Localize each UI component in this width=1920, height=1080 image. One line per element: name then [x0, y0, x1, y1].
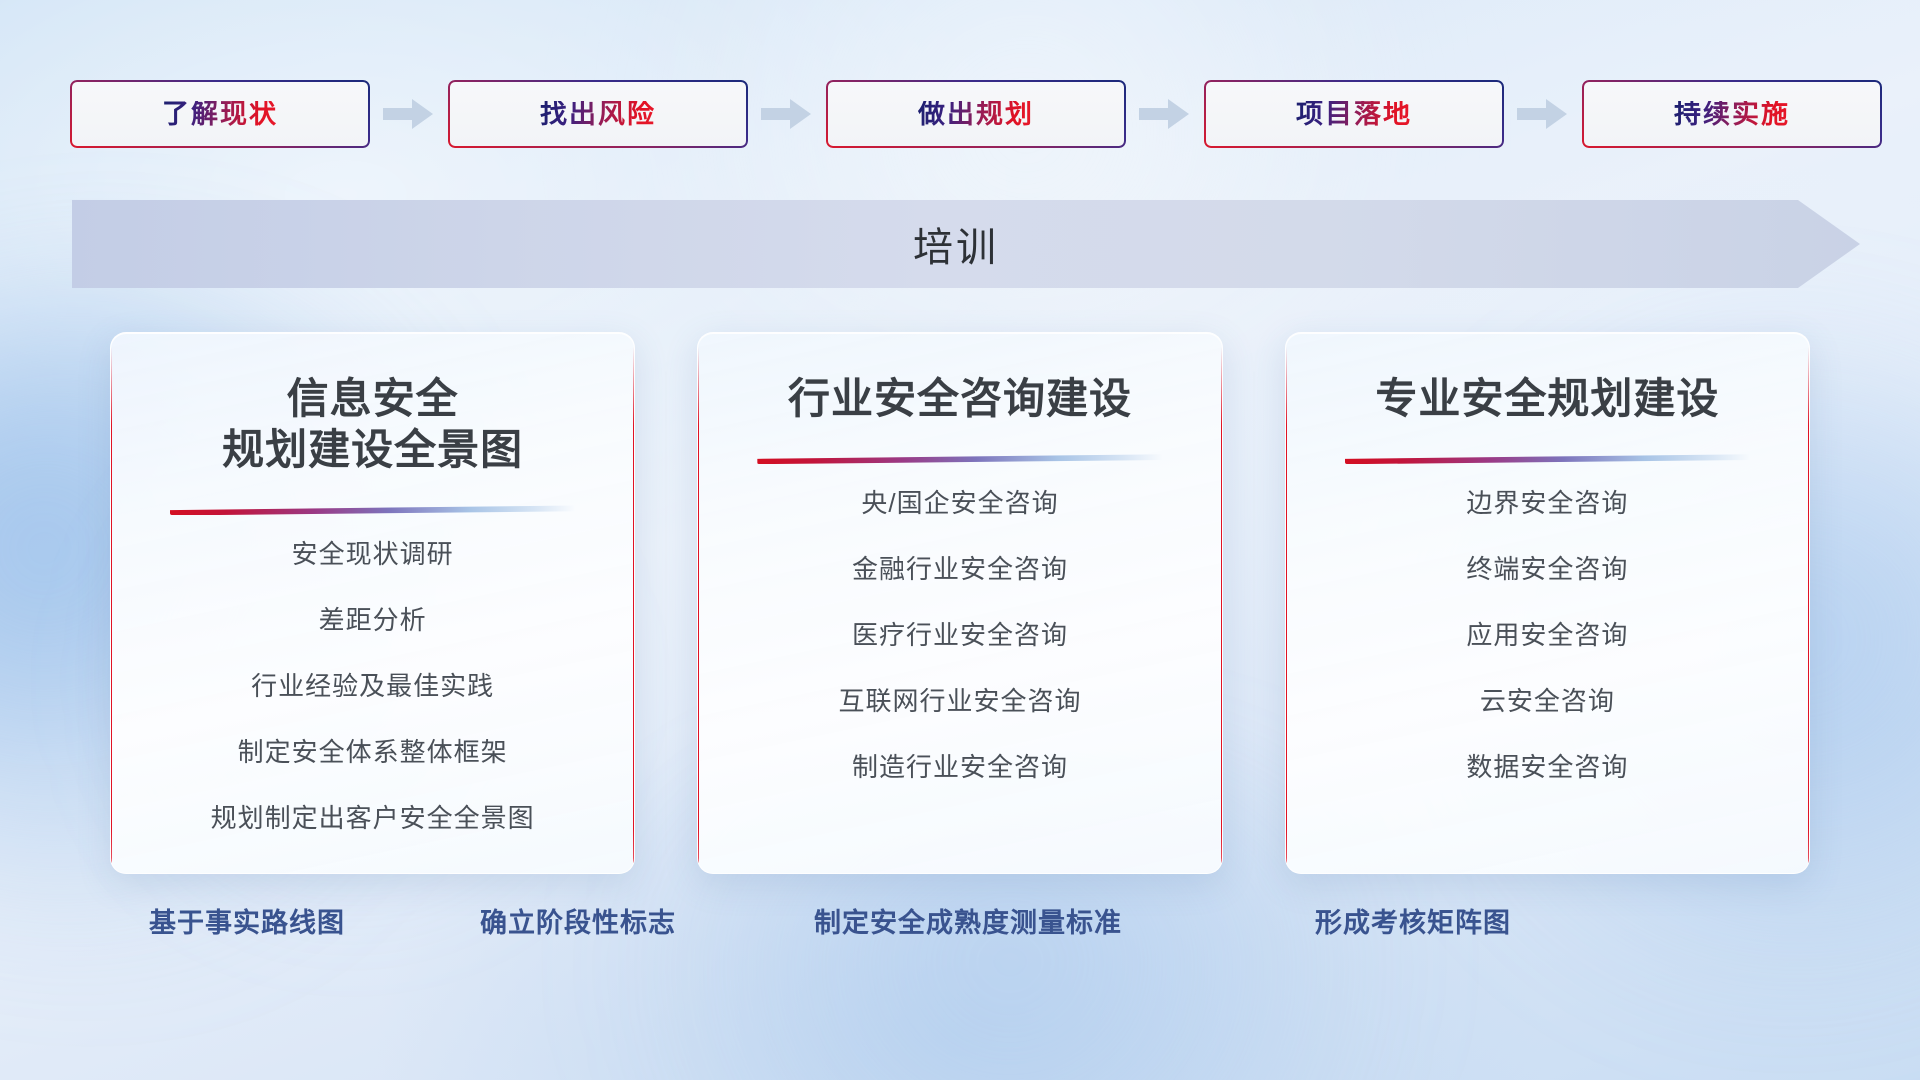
list-item: 医疗行业安全咨询: [724, 622, 1195, 648]
outcome-label-row: 基于事实路线图 确立阶段性标志 制定安全成熟度测量标准 形成考核矩阵图: [0, 910, 1920, 960]
card-accent-line-left: [110, 347, 112, 874]
outcome-label-3: 制定安全成熟度测量标准: [814, 910, 1122, 937]
process-step-3[interactable]: 做出规划: [826, 80, 1126, 148]
list-item: 安全现状调研: [137, 541, 608, 567]
process-step-2-label: 找出风险: [540, 101, 656, 128]
list-item: 差距分析: [137, 607, 608, 633]
list-item: 制造行业安全咨询: [724, 754, 1195, 780]
outcome-label-4: 形成考核矩阵图: [1315, 910, 1511, 937]
background-blob-top: [576, 0, 1476, 340]
list-item: 应用安全咨询: [1312, 622, 1783, 648]
list-item: 金融行业安全咨询: [724, 556, 1195, 582]
process-step-5[interactable]: 持续实施: [1582, 80, 1882, 148]
card-accent-line-right: [1221, 347, 1223, 874]
process-step-5-label: 持续实施: [1674, 101, 1790, 128]
list-item: 规划制定出客户安全全景图: [137, 805, 608, 831]
training-banner-label: 培训: [72, 200, 1860, 288]
service-card-row: 信息安全 规划建设全景图 安全现状调研 差距分析 行业经验及最佳实践 制定安全体…: [110, 332, 1810, 874]
process-step-2[interactable]: 找出风险: [448, 80, 748, 148]
list-item: 云安全咨询: [1312, 688, 1783, 714]
training-banner: 培训: [72, 200, 1860, 288]
card-divider: [170, 505, 575, 515]
card-accent-line-left: [1285, 347, 1287, 874]
service-card-1-title: 信息安全 规划建设全景图: [222, 373, 523, 475]
card-divider: [1345, 454, 1750, 464]
list-item: 制定安全体系整体框架: [137, 739, 608, 765]
service-card-3-title: 专业安全规划建设: [1375, 373, 1719, 424]
process-step-1-label: 了解现状: [162, 101, 278, 128]
service-card-2-title: 行业安全咨询建设: [788, 373, 1132, 424]
list-item: 边界安全咨询: [1312, 490, 1783, 516]
service-card-2-list: 央/国企安全咨询 金融行业安全咨询 医疗行业安全咨询 互联网行业安全咨询 制造行…: [724, 490, 1195, 780]
list-item: 行业经验及最佳实践: [137, 673, 608, 699]
process-step-4-label: 项目落地: [1296, 101, 1412, 128]
process-step-4[interactable]: 项目落地: [1204, 80, 1504, 148]
service-card-2[interactable]: 行业安全咨询建设 央/国企安全咨询 金融行业安全咨询 医疗行业安全咨询 互联网行…: [697, 332, 1222, 874]
service-card-3[interactable]: 专业安全规划建设 边界安全咨询 终端安全咨询 应用安全咨询 云安全咨询 数据安全…: [1285, 332, 1810, 874]
list-item: 互联网行业安全咨询: [724, 688, 1195, 714]
card-divider: [757, 454, 1162, 464]
list-item: 终端安全咨询: [1312, 556, 1783, 582]
service-card-3-list: 边界安全咨询 终端安全咨询 应用安全咨询 云安全咨询 数据安全咨询: [1312, 490, 1783, 780]
card-accent-line-right: [633, 347, 635, 874]
card-accent-line-left: [697, 347, 699, 874]
outcome-label-2: 确立阶段性标志: [480, 910, 676, 937]
service-card-1[interactable]: 信息安全 规划建设全景图 安全现状调研 差距分析 行业经验及最佳实践 制定安全体…: [110, 332, 635, 874]
list-item: 央/国企安全咨询: [724, 490, 1195, 516]
process-step-1[interactable]: 了解现状: [70, 80, 370, 148]
arrow-right-icon: [1517, 97, 1569, 131]
process-step-row: 了解现状 找出风险 做出规划 项目落地 持续实施: [70, 80, 1860, 148]
service-card-1-list: 安全现状调研 差距分析 行业经验及最佳实践 制定安全体系整体框架 规划制定出客户…: [137, 541, 608, 831]
arrow-right-icon: [1139, 97, 1191, 131]
outcome-label-1: 基于事实路线图: [149, 910, 345, 937]
process-step-3-label: 做出规划: [918, 101, 1034, 128]
list-item: 数据安全咨询: [1312, 754, 1783, 780]
arrow-right-icon: [383, 97, 435, 131]
arrow-right-icon: [761, 97, 813, 131]
card-accent-line-right: [1808, 347, 1810, 874]
slide-canvas: 了解现状 找出风险 做出规划 项目落地 持续实施 培训: [0, 0, 1920, 1080]
